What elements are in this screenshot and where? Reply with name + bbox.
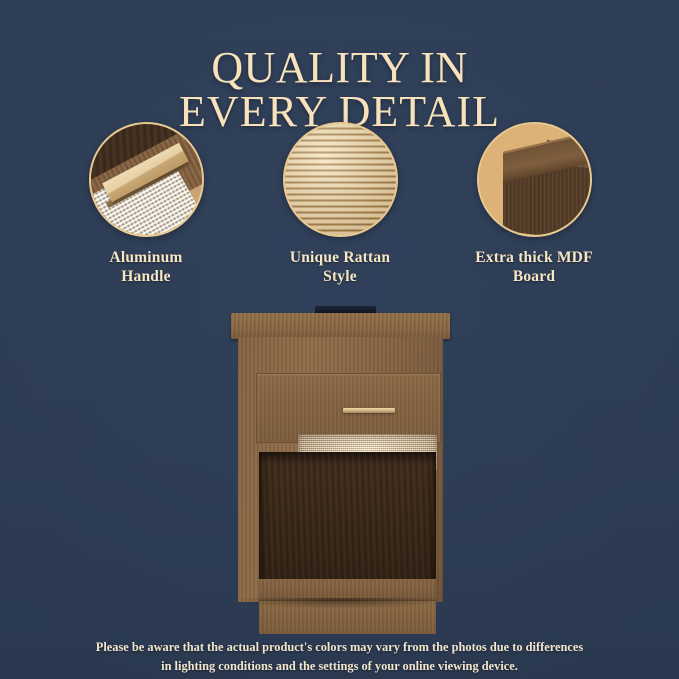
caption-line-2: Board <box>513 268 555 285</box>
feature-item-mdf-board: Extra thick MDF Board <box>450 122 618 287</box>
caption-line-2: Style <box>323 268 357 285</box>
floor-shadow <box>233 598 448 608</box>
caption-line-1: Unique Rattan <box>290 249 390 266</box>
feature-list: Aluminum Handle Unique Rattan Style <box>62 122 618 287</box>
cabinet-body <box>238 337 443 602</box>
rattan-weave-photo-icon <box>283 122 398 237</box>
page-title-line-1: QUALITY IN <box>211 43 467 92</box>
feature-item-rattan-style: Unique Rattan Style <box>256 122 424 287</box>
mdf-board-photo-inner <box>479 124 590 235</box>
caption-line-1: Aluminum <box>109 249 182 266</box>
feature-caption-mdf-board: Extra thick MDF Board <box>475 249 593 287</box>
feature-item-aluminum-handle: Aluminum Handle <box>62 122 230 287</box>
disclaimer-line-2: in lighting conditions and the settings … <box>161 659 518 673</box>
caption-line-2: Handle <box>121 268 170 285</box>
aluminum-handle-photo-icon <box>89 122 204 237</box>
product-image-nightstand <box>231 306 450 602</box>
aluminum-bar-handle <box>343 408 395 413</box>
feature-caption-aluminum-handle: Aluminum Handle <box>109 249 182 287</box>
disclaimer-line-1: Please be aware that the actual product'… <box>96 640 583 654</box>
single-drawer <box>256 373 441 443</box>
page-title: QUALITY IN EVERY DETAIL <box>0 46 679 133</box>
shelf-floor <box>259 579 436 600</box>
rattan-weave-shading <box>285 124 396 235</box>
caption-line-1: Extra thick MDF <box>475 249 593 266</box>
mdf-board-corner-photo-icon <box>477 122 592 237</box>
aluminum-handle-photo-inner <box>91 124 202 235</box>
wood-top-surface <box>231 313 450 339</box>
color-disclaimer: Please be aware that the actual product'… <box>50 638 629 675</box>
product-feature-poster: QUALITY IN EVERY DETAIL Aluminum Handle <box>0 0 679 679</box>
rattan-weave-photo-inner <box>285 124 396 235</box>
feature-caption-rattan-style: Unique Rattan Style <box>290 249 390 287</box>
open-shelf-compartment <box>259 452 436 600</box>
